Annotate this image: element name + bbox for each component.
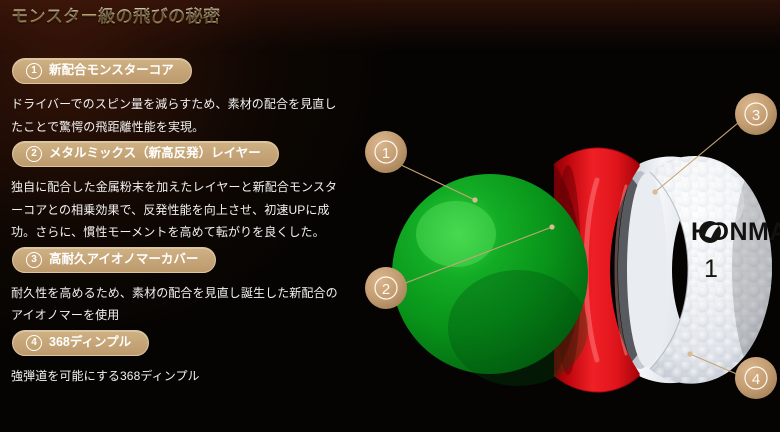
feature-panel: モンスター級の飛びの秘密 1新配合モンスターコア ドライバーでのスピン量を減らす… xyxy=(0,0,780,432)
feature-item: 3高耐久アイオノマーカバー 耐久性を高めるため、素材の配合を見直し誕生した新配合… xyxy=(0,247,352,327)
callout-badge-1[interactable]: 1 xyxy=(365,131,407,173)
feature-label-4: 368ディンプル xyxy=(49,335,131,349)
callout-badge-1-label: 1 xyxy=(382,145,390,162)
feature-pill-4[interactable]: 4368ディンプル xyxy=(12,330,149,356)
feature-number-4: 4 xyxy=(26,335,42,351)
core-shadow xyxy=(448,270,588,386)
feature-body-2: 独自に配合した金属粉末を加えたレイヤーと新配合モンスターコアとの相乗効果で、反発… xyxy=(11,176,352,244)
feature-pill-2[interactable]: 2メタルミックス（新高反発）レイヤー xyxy=(12,141,279,167)
callout-badge-4-label: 4 xyxy=(752,371,760,388)
leader-dot-1 xyxy=(472,197,477,202)
feature-label-2: メタルミックス（新高反発）レイヤー xyxy=(49,146,261,160)
cover-inner-wall xyxy=(627,173,667,367)
feature-pill-3[interactable]: 3高耐久アイオノマーカバー xyxy=(12,247,216,273)
feature-number-1: 1 xyxy=(26,63,42,79)
feature-item: 2メタルミックス（新高反発）レイヤー 独自に配合した金属粉末を加えたレイヤーと新… xyxy=(0,141,352,244)
feature-item: 1新配合モンスターコア ドライバーでのスピン量を減らすため、素材の配合を見直した… xyxy=(0,58,352,138)
feature-item: 4368ディンプル 強弾道を可能にする368ディンプル xyxy=(0,330,352,388)
ball-number-text: 1 xyxy=(704,255,718,283)
callout-badge-4[interactable]: 4 xyxy=(735,357,777,399)
leader-dot-3 xyxy=(652,189,657,194)
feature-body-1: ドライバーでのスピン量を減らすため、素材の配合を見直したことで驚愕の飛距離性能を… xyxy=(11,93,352,138)
golf-ball-cutaway-illustration: HONMA 1 1 xyxy=(358,92,780,432)
callout-badge-2-label: 2 xyxy=(382,281,390,298)
page-title: モンスター級の飛びの秘密 xyxy=(11,5,221,29)
monster-core xyxy=(392,174,588,386)
callout-badge-3[interactable]: 3 xyxy=(735,93,777,135)
feature-body-4: 強弾道を可能にする368ディンプル xyxy=(11,365,352,388)
feature-number-3: 3 xyxy=(26,252,42,268)
feature-body-3: 耐久性を高めるため、素材の配合を見直し誕生した新配合のアイオノマーを使用 xyxy=(11,282,352,327)
leader-dot-4 xyxy=(687,351,692,356)
callout-badge-2[interactable]: 2 xyxy=(365,267,407,309)
core-highlight xyxy=(416,201,496,267)
feature-label-3: 高耐久アイオノマーカバー xyxy=(49,252,198,266)
feature-pill-1[interactable]: 1新配合モンスターコア xyxy=(12,58,192,84)
feature-label-1: 新配合モンスターコア xyxy=(49,63,174,77)
feature-number-2: 2 xyxy=(26,146,42,162)
feature-list: 1新配合モンスターコア ドライバーでのスピン量を減らすため、素材の配合を見直した… xyxy=(0,58,352,390)
leader-dot-2 xyxy=(549,224,554,229)
callout-badge-3-label: 3 xyxy=(752,107,760,124)
